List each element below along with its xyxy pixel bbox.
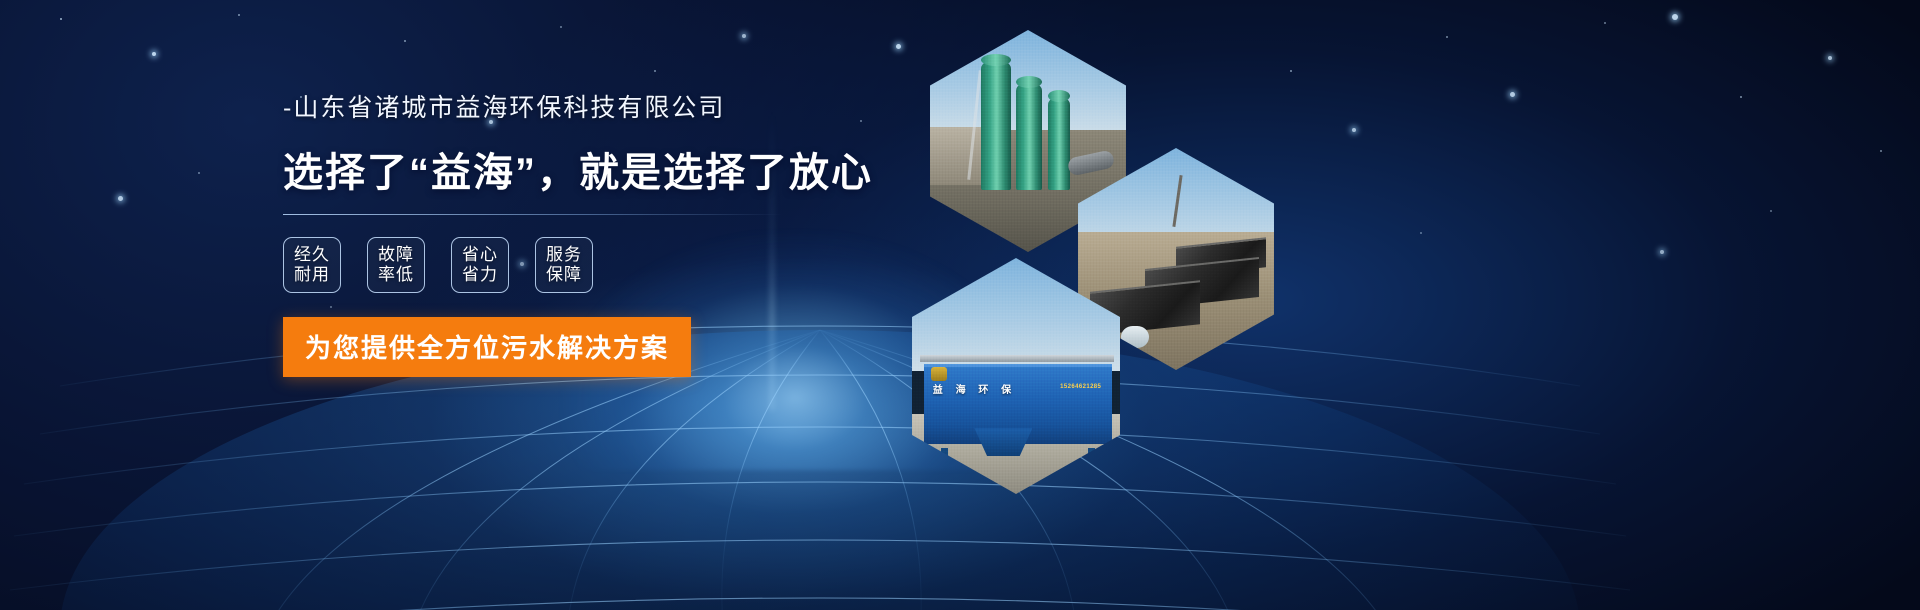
feature-badge: 服务 保障: [535, 237, 593, 293]
badge-line-1: 经久: [294, 245, 330, 265]
banner-content: -山东省诸城市益海环保科技有限公司 选择了“益海”，就是选择了放心 经久 耐用 …: [283, 88, 903, 377]
company-subtitle: -山东省诸城市益海环保科技有限公司: [283, 88, 903, 124]
headline-divider: [283, 214, 783, 215]
badge-line-1: 服务: [546, 245, 582, 265]
badge-line-2: 耐用: [294, 265, 330, 285]
feature-badge-list: 经久 耐用 故障 率低 省心 省力 服务 保障: [283, 237, 903, 293]
cta-banner-button[interactable]: 为您提供全方位污水解决方案: [283, 317, 691, 377]
hero-banner: -山东省诸城市益海环保科技有限公司 选择了“益海”，就是选择了放心 经久 耐用 …: [0, 0, 1920, 610]
badge-line-1: 省心: [462, 245, 498, 265]
badge-line-2: 率低: [378, 265, 414, 285]
banner-headline: 选择了“益海”，就是选择了放心: [283, 140, 903, 198]
feature-badge: 故障 率低: [367, 237, 425, 293]
feature-badge: 省心 省力: [451, 237, 509, 293]
badge-line-2: 省力: [462, 265, 498, 285]
badge-line-1: 故障: [378, 245, 414, 265]
feature-badge: 经久 耐用: [283, 237, 341, 293]
badge-line-2: 保障: [546, 265, 582, 285]
